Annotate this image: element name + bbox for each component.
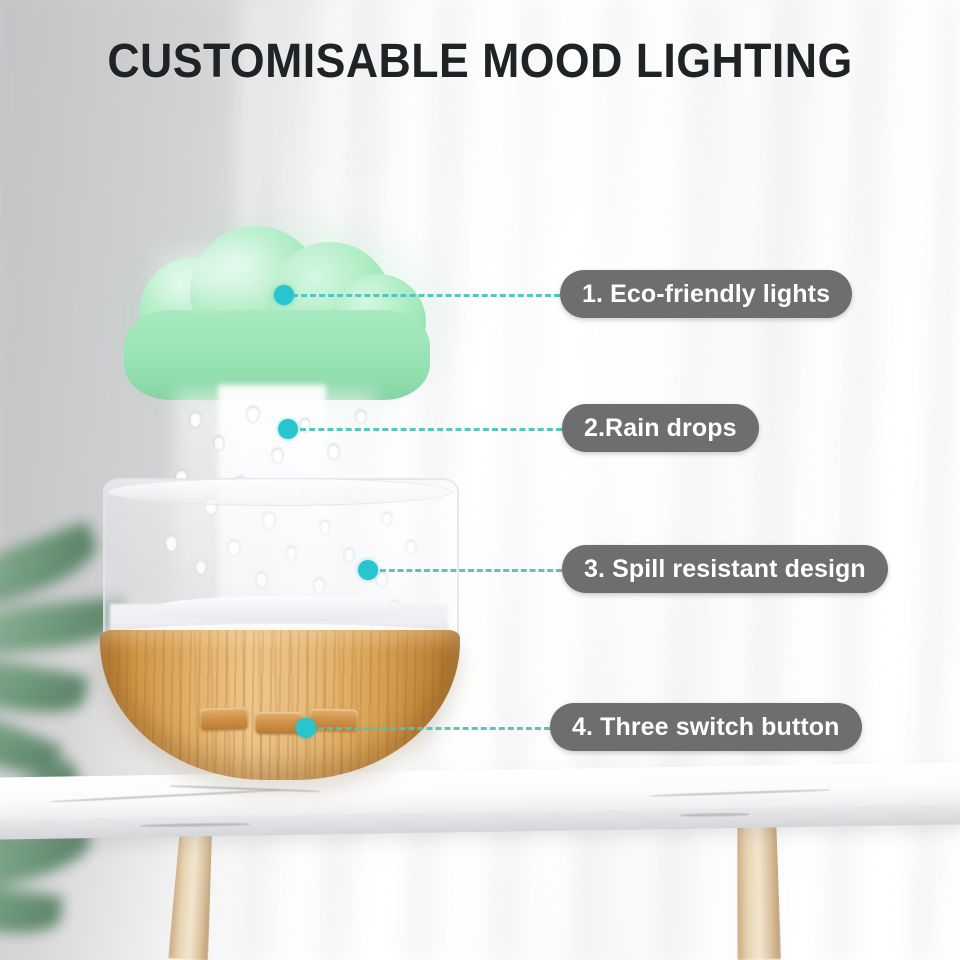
callout-label-1[interactable]: 1. Eco-friendly lights — [560, 270, 852, 318]
callout-dot-4[interactable] — [296, 718, 316, 738]
callout-label-3[interactable]: 3. Spill resistant design — [562, 545, 888, 593]
switch-button-1[interactable] — [200, 707, 249, 731]
callout-dot-1[interactable] — [274, 285, 294, 305]
callout-label-2[interactable]: 2.Rain drops — [562, 404, 759, 452]
callout-label-4[interactable]: 4. Three switch button — [550, 703, 862, 751]
callout-dot-3[interactable] — [358, 560, 378, 580]
callout-dot-2[interactable] — [278, 419, 298, 439]
leader-line-2 — [300, 428, 562, 431]
leader-line-3 — [380, 569, 562, 572]
cloud-highlight — [150, 244, 300, 314]
water-tank-rim — [108, 478, 452, 506]
rain-cloud-humidifier — [0, 0, 960, 960]
leader-line-4 — [318, 727, 550, 730]
wooden-base — [100, 630, 460, 780]
leader-line-1 — [292, 294, 560, 297]
product-infographic: CUSTOMISABLE MOOD LIGHTING 1. Eco-friend… — [0, 0, 960, 960]
diffuser-plate — [150, 596, 408, 622]
page-title: CUSTOMISABLE MOOD LIGHTING — [34, 34, 927, 89]
